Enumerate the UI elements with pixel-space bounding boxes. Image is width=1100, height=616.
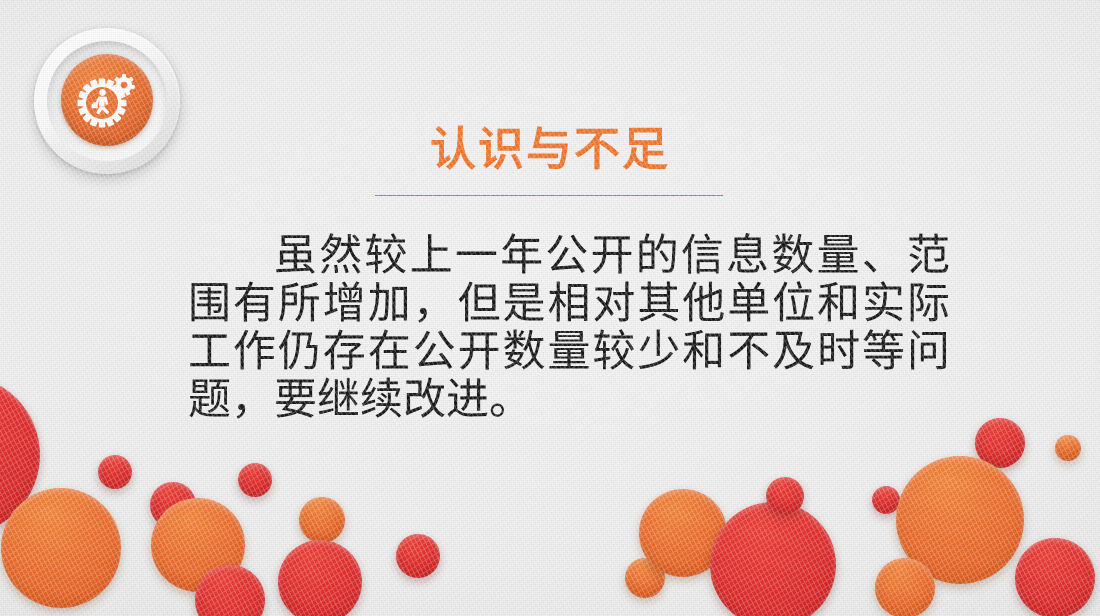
circle-red-10 — [872, 486, 900, 514]
circle-red-4 — [150, 482, 196, 528]
circle-orange-6 — [1055, 435, 1081, 461]
circle-orange-1 — [299, 497, 345, 543]
circle-orange-5 — [639, 489, 727, 577]
circle-red-3 — [238, 463, 272, 497]
businessman-gear-icon — [76, 69, 138, 131]
circle-red-6 — [278, 540, 362, 616]
slide-badge — [34, 28, 180, 174]
body-paragraph: 虽然较上一年公开的信息数量、范围有所增加，但是相对其他单位和实际工作仍存在公开数… — [188, 233, 950, 425]
badge-icon-disc — [61, 54, 153, 146]
circle-red-9 — [766, 477, 804, 515]
circle-red-7 — [195, 565, 265, 616]
circle-red-12 — [1015, 538, 1095, 616]
circle-orange-8 — [875, 558, 935, 616]
circle-red-5 — [396, 534, 440, 578]
title-divider — [375, 195, 723, 196]
circle-red-8 — [710, 502, 836, 616]
page-title: 认识与不足 — [290, 113, 810, 179]
circle-red-2 — [98, 455, 132, 489]
circle-red-11 — [975, 418, 1025, 468]
circle-red-1 — [0, 375, 40, 535]
presentation-slide: 认识与不足 虽然较上一年公开的信息数量、范围有所增加，但是相对其他单位和实际工作… — [0, 0, 1100, 616]
circle-orange-2 — [1, 488, 121, 608]
circle-orange-4 — [625, 558, 665, 598]
circle-orange-7 — [896, 456, 1024, 584]
circle-orange-3 — [151, 498, 245, 592]
